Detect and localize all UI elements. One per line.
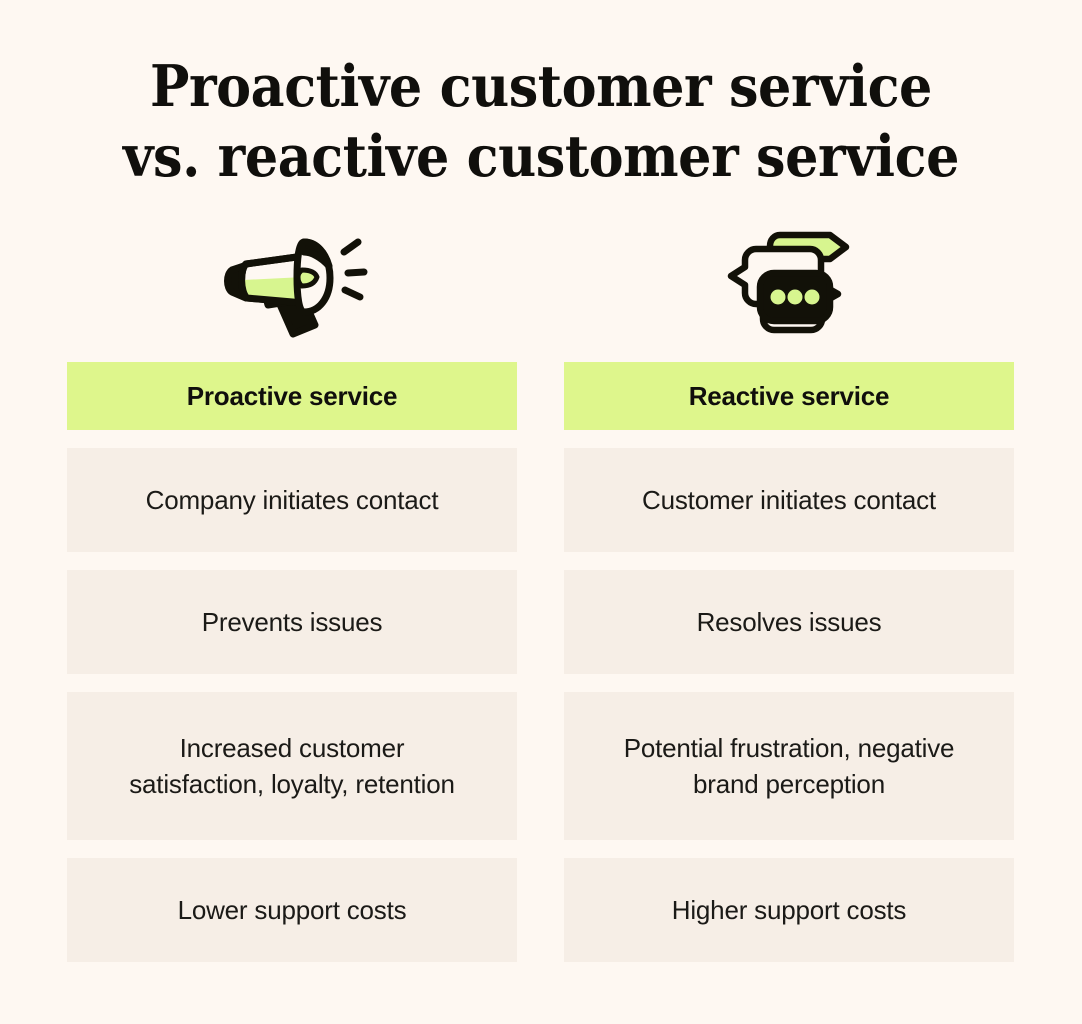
cell-reactive-row-3: Potential frustration, negative brand pe… (564, 692, 1014, 840)
page-title-line-2: vs. reactive customer service (43, 122, 1038, 192)
cell-reactive-row-3-line-1: Potential frustration, negative (624, 733, 955, 763)
cell-proactive-row-2: Prevents issues (67, 570, 517, 674)
cell-proactive-row-3-line-2: satisfaction, loyalty, retention (129, 769, 455, 799)
icons-row (67, 222, 1014, 342)
chat-bubbles-icon (718, 227, 860, 337)
cell-proactive-row-3-line-1: Increased customer (180, 733, 405, 763)
page-title-line-1: Proactive customer service (43, 52, 1038, 122)
page-title: Proactive customer service vs. reactive … (0, 52, 1082, 192)
megaphone-icon (216, 226, 368, 338)
column-header-proactive: Proactive service (67, 362, 517, 430)
cell-reactive-row-4: Higher support costs (564, 858, 1014, 962)
cell-proactive-row-3: Increased customer satisfaction, loyalty… (67, 692, 517, 840)
cell-reactive-row-3-line-2: brand perception (693, 769, 885, 799)
cell-proactive-row-1: Company initiates contact (67, 448, 517, 552)
cell-proactive-row-4: Lower support costs (67, 858, 517, 962)
proactive-icon-cell (67, 222, 517, 342)
chat-dot-3 (805, 290, 820, 305)
column-reactive: Reactive service Customer initiates cont… (564, 362, 1014, 962)
column-proactive: Proactive service Company initiates cont… (67, 362, 517, 962)
cell-reactive-row-2: Resolves issues (564, 570, 1014, 674)
chat-dot-2 (788, 290, 803, 305)
cell-reactive-row-1: Customer initiates contact (564, 448, 1014, 552)
cell-reactive-row-3-text: Potential frustration, negative brand pe… (624, 730, 955, 802)
chat-dot-1 (771, 290, 786, 305)
reactive-icon-cell (564, 222, 1014, 342)
cell-proactive-row-3-text: Increased customer satisfaction, loyalty… (129, 730, 455, 802)
infographic-root: Proactive customer service vs. reactive … (0, 0, 1082, 1024)
comparison-table: Proactive service Company initiates cont… (67, 362, 1014, 962)
column-header-reactive: Reactive service (564, 362, 1014, 430)
